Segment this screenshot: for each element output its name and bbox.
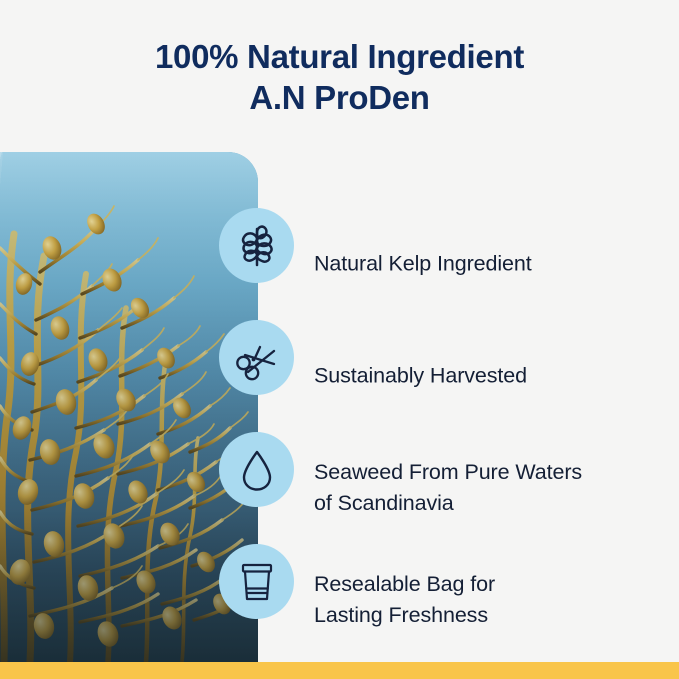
page-title-line-1: 100% Natural Ingredient [155, 38, 524, 75]
list-item: Sustainably Harvested [219, 320, 669, 432]
scissors-icon [219, 320, 294, 395]
infographic-canvas: 100% Natural Ingredient A.N ProDen [0, 0, 679, 679]
list-item: Natural Kelp Ingredient [219, 208, 669, 320]
list-item: Seaweed From Pure Waters of Scandinavia [219, 432, 669, 544]
page-title: 100% Natural Ingredient A.N ProDen [0, 36, 679, 118]
bottom-accent-bar [0, 662, 679, 679]
list-item-label: Natural Kelp Ingredient [314, 249, 669, 280]
water-drop-icon [219, 432, 294, 507]
feature-list: Natural Kelp Ingredient Sustainably [219, 208, 669, 656]
list-item-label: Sustainably Harvested [314, 361, 669, 392]
resealable-bag-icon [219, 544, 294, 619]
list-item-label: Resealable Bag for Lasting Freshness [314, 569, 669, 631]
kelp-leaf-icon [219, 208, 294, 283]
list-item: Resealable Bag for Lasting Freshness [219, 544, 669, 656]
list-item-label: Seaweed From Pure Waters of Scandinavia [314, 457, 669, 519]
page-title-line-2: A.N ProDen [0, 77, 679, 118]
